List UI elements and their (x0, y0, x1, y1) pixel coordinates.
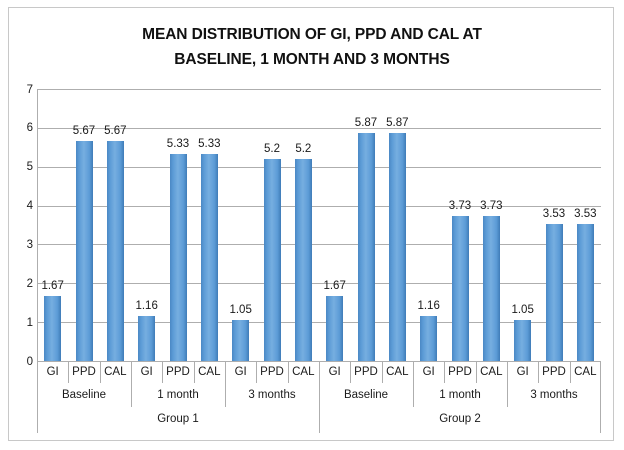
category-label-group: Group 2 (319, 412, 601, 426)
bar (358, 133, 375, 361)
bar-value-label: 1.05 (506, 304, 540, 317)
category-label-timepoint: Baseline (319, 388, 413, 402)
plot-area: 1.675.675.671.165.335.331.055.25.21.675.… (37, 89, 601, 361)
bar (295, 159, 312, 361)
category-separator-measure (194, 361, 195, 383)
category-label-measure: PPD (538, 365, 569, 379)
y-tick-label-7: 7 (13, 84, 33, 96)
bar-value-label: 1.16 (412, 300, 446, 313)
category-label-timepoint: Baseline (37, 388, 131, 402)
bar-value-label: 5.33 (192, 138, 226, 151)
bar-value-label: 1.16 (130, 300, 164, 313)
bar-value-label: 1.67 (36, 280, 70, 293)
y-axis-line (37, 89, 38, 361)
y-axis-tick-labels: 01234567 (9, 89, 33, 362)
y-tick-label-0: 0 (13, 356, 33, 368)
chart-title-line-1: MEAN DISTRIBUTION OF GI, PPD AND CAL AT (9, 22, 615, 47)
y-tick-label-2: 2 (13, 278, 33, 290)
bar (577, 224, 594, 361)
category-separator-measure (256, 361, 257, 383)
category-label-measure: CAL (100, 365, 131, 379)
category-label-measure: GI (413, 365, 444, 379)
category-separator-measure (350, 361, 351, 383)
bar-value-label: 1.05 (224, 304, 258, 317)
bar (107, 141, 124, 361)
category-separator-measure (162, 361, 163, 383)
category-separator-timepoint (225, 361, 226, 407)
category-separator-group (319, 361, 320, 433)
category-label-measure: PPD (256, 365, 287, 379)
category-separator-measure (100, 361, 101, 383)
bar (232, 320, 249, 361)
bar-value-label: 1.67 (318, 280, 352, 293)
bar (138, 316, 155, 361)
bar (201, 154, 218, 361)
bar-value-label: 3.73 (443, 200, 477, 213)
category-label-measure: PPD (68, 365, 99, 379)
category-separator-timepoint (131, 361, 132, 407)
chart-frame: MEAN DISTRIBUTION OF GI, PPD AND CAL AT … (8, 7, 614, 441)
bar-value-label: 5.33 (161, 138, 195, 151)
bar (452, 216, 469, 361)
category-label-measure: GI (319, 365, 350, 379)
bar-value-label: 3.53 (568, 208, 602, 221)
bar-value-label: 5.67 (67, 125, 101, 138)
y-tick-label-6: 6 (13, 122, 33, 134)
bar-value-label: 3.53 (537, 208, 571, 221)
category-separator-timepoint (413, 361, 414, 407)
category-label-measure: CAL (382, 365, 413, 379)
category-label-measure: CAL (476, 365, 507, 379)
bar-value-label: 3.73 (474, 200, 508, 213)
category-label-timepoint: 3 months (507, 388, 601, 402)
bar (514, 320, 531, 361)
category-label-timepoint: 3 months (225, 388, 319, 402)
bar-value-label: 5.67 (98, 125, 132, 138)
category-label-measure: CAL (570, 365, 601, 379)
chart-title: MEAN DISTRIBUTION OF GI, PPD AND CAL AT … (9, 22, 615, 72)
category-separator-measure (68, 361, 69, 383)
category-axis: GIPPDCALGIPPDCALGIPPDCALGIPPDCALGIPPDCAL… (37, 361, 601, 433)
y-tick-label-1: 1 (13, 317, 33, 329)
bar-value-label: 5.2 (255, 143, 289, 156)
category-label-group: Group 1 (37, 412, 319, 426)
category-label-measure: GI (131, 365, 162, 379)
gridline-7 (37, 89, 601, 90)
category-label-timepoint: 1 month (131, 388, 225, 402)
bar (264, 159, 281, 361)
category-separator-measure (538, 361, 539, 383)
bar (326, 296, 343, 361)
y-tick-label-3: 3 (13, 239, 33, 251)
category-label-measure: CAL (288, 365, 319, 379)
category-separator-measure (570, 361, 571, 383)
bar-value-label: 5.2 (286, 143, 320, 156)
chart-title-line-2: BASELINE, 1 MONTH AND 3 MONTHS (9, 47, 615, 72)
y-tick-label-5: 5 (13, 161, 33, 173)
bar-value-label: 5.87 (380, 117, 414, 130)
bar (420, 316, 437, 361)
category-label-measure: PPD (444, 365, 475, 379)
category-label-measure: PPD (350, 365, 381, 379)
category-label-measure: CAL (194, 365, 225, 379)
category-separator-measure (382, 361, 383, 383)
bar (546, 224, 563, 361)
bar (44, 296, 61, 361)
category-separator-measure (288, 361, 289, 383)
category-separator-measure (476, 361, 477, 383)
bar (170, 154, 187, 361)
category-label-measure: GI (507, 365, 538, 379)
category-separator-timepoint (507, 361, 508, 407)
bar (389, 133, 406, 361)
bar (483, 216, 500, 361)
y-tick-label-4: 4 (13, 200, 33, 212)
bar (76, 141, 93, 361)
category-separator-measure (444, 361, 445, 383)
category-label-measure: GI (225, 365, 256, 379)
category-label-measure: GI (37, 365, 68, 379)
category-label-timepoint: 1 month (413, 388, 507, 402)
bar-value-label: 5.87 (349, 117, 383, 130)
category-label-measure: PPD (162, 365, 193, 379)
